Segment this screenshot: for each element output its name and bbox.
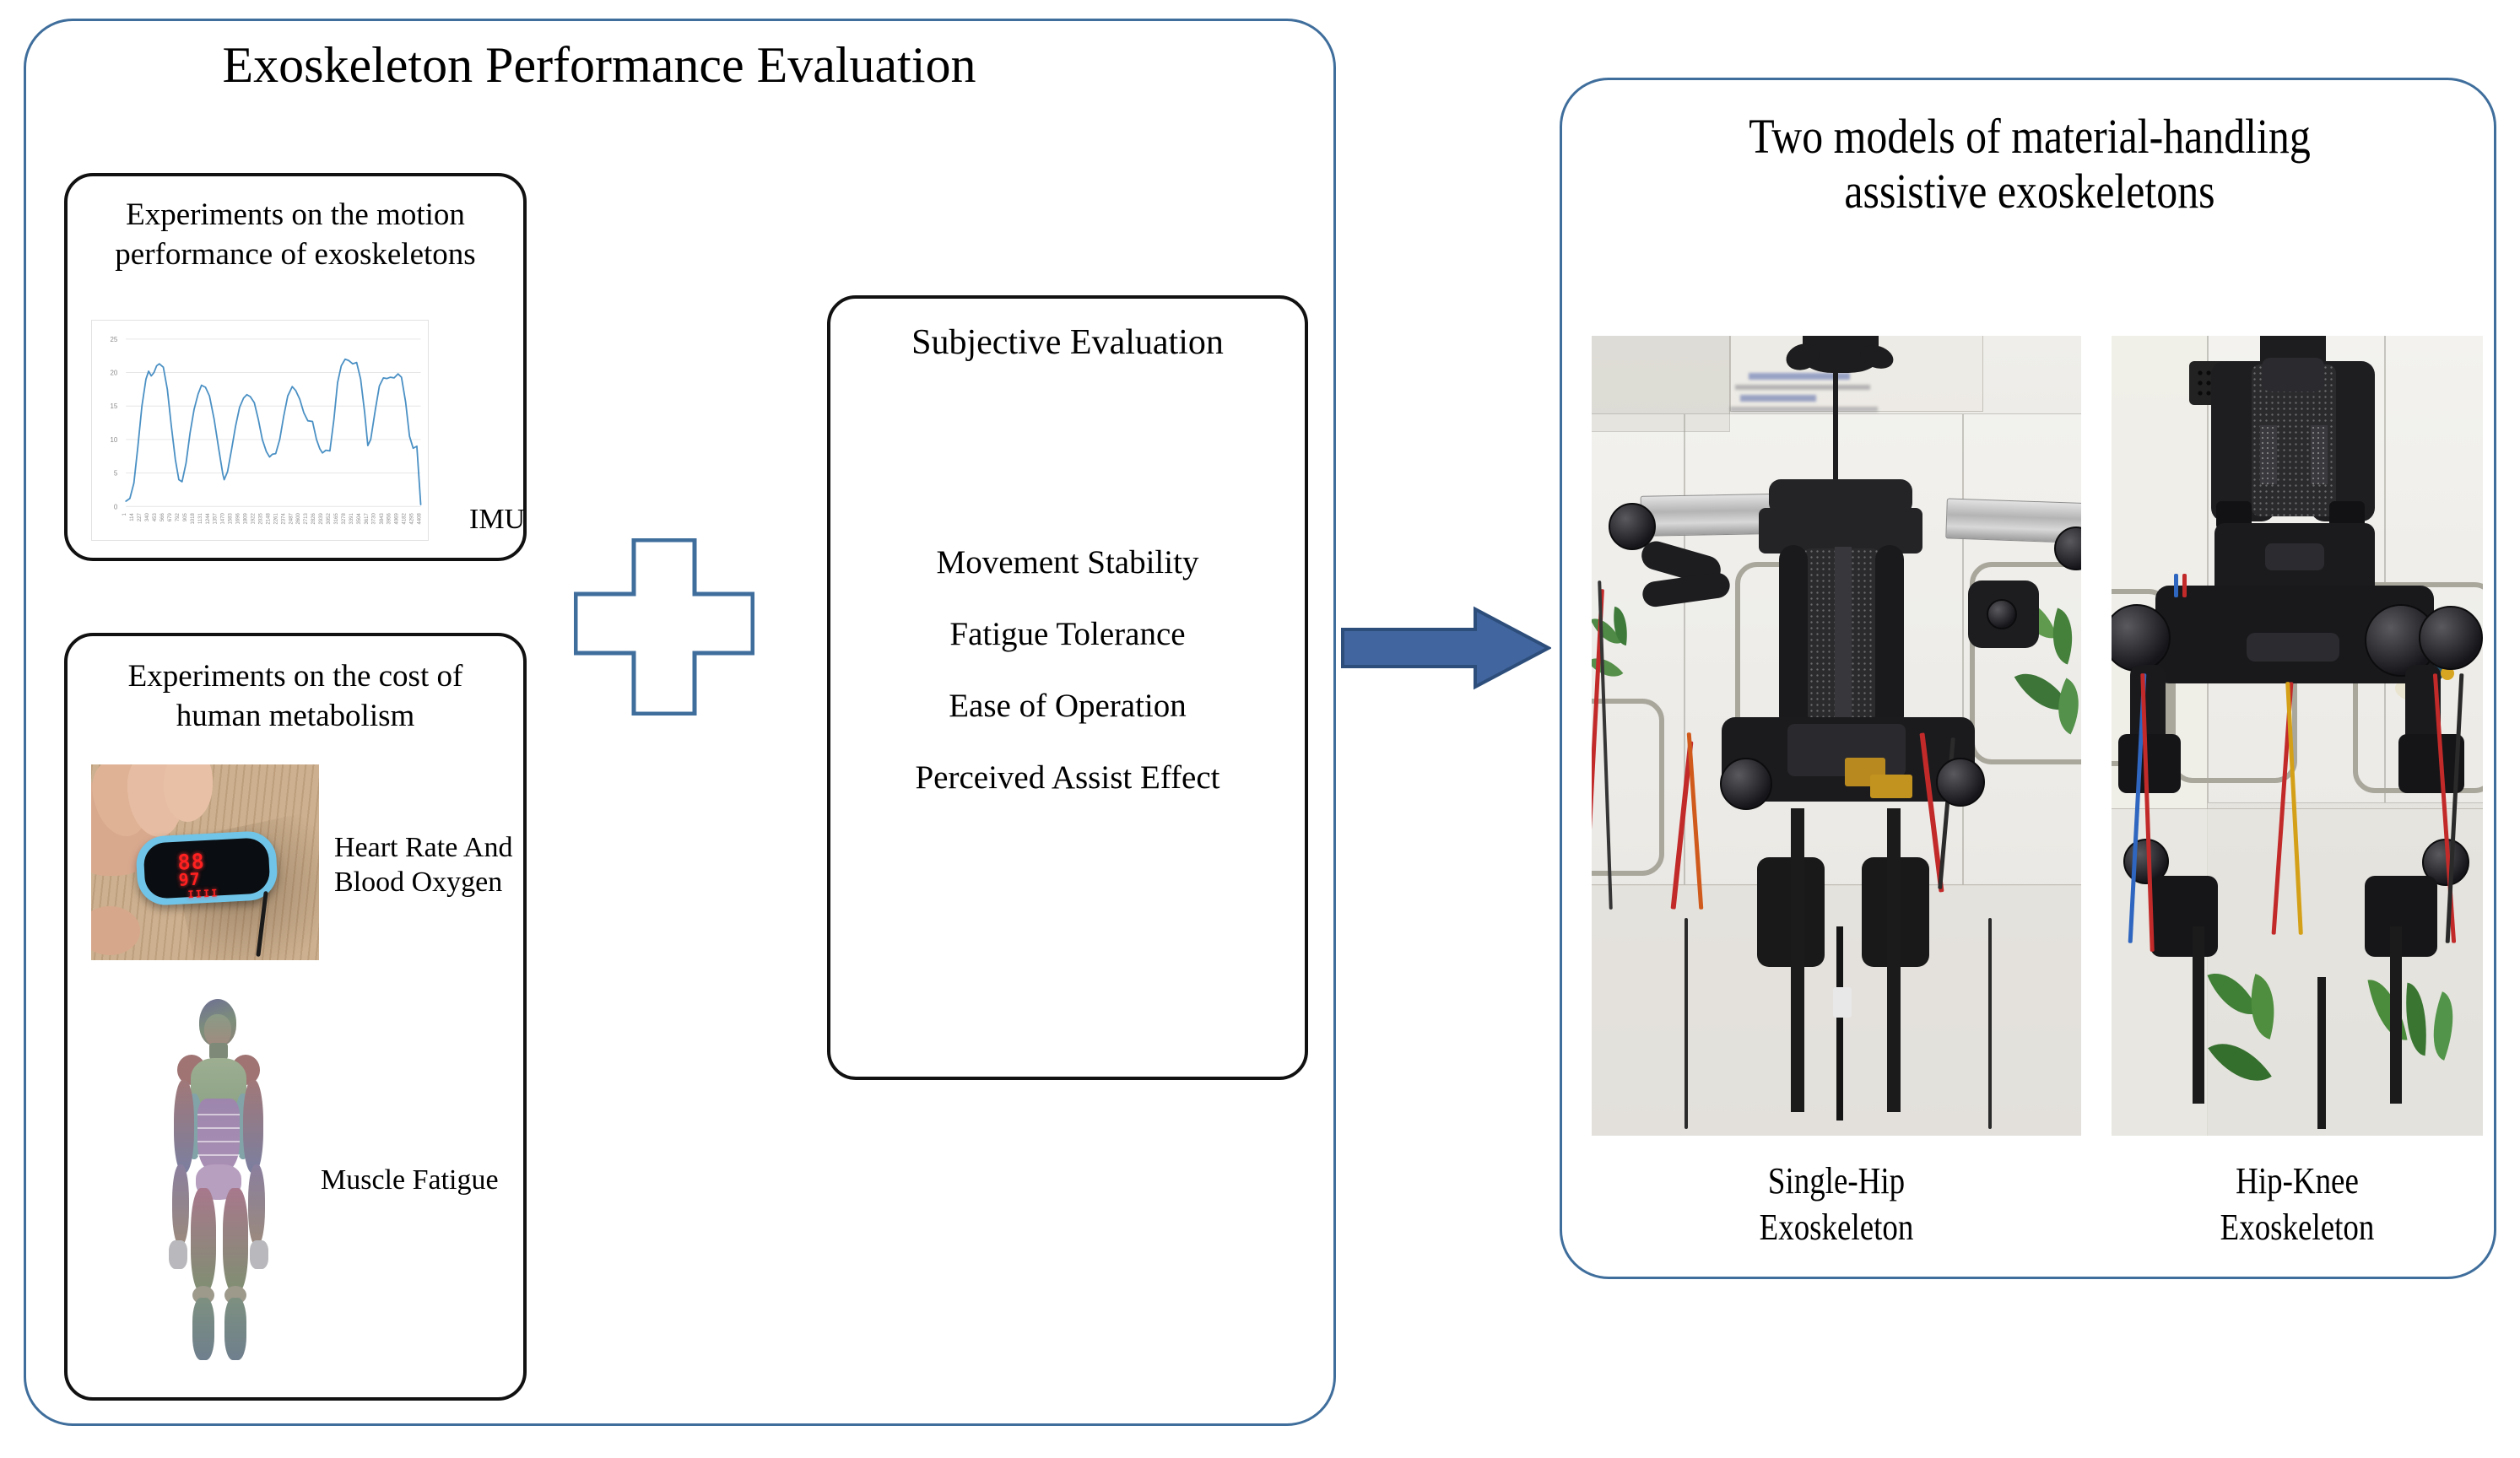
svg-text:4069: 4069 [395, 513, 400, 525]
svg-text:4408: 4408 [418, 513, 423, 525]
connector-white [1833, 987, 1852, 1018]
right-arrow-icon [1340, 606, 1551, 690]
anatomy-calf-right [224, 1298, 246, 1360]
subjective-item-perceived-assist-effect: Perceived Assist Effect [830, 759, 1305, 796]
svg-text:227: 227 [138, 513, 143, 521]
svg-text:3504: 3504 [357, 513, 362, 525]
svg-text:1131: 1131 [198, 513, 203, 524]
thigh-cuff-left [2118, 734, 2181, 793]
svg-text:1018: 1018 [191, 513, 196, 525]
svg-text:3956: 3956 [387, 513, 392, 525]
svg-text:2374: 2374 [281, 513, 286, 525]
svg-text:114: 114 [130, 513, 135, 521]
svg-text:3730: 3730 [372, 513, 377, 525]
motion-experiments-box: Experiments on the motion performance of… [64, 173, 527, 561]
svg-text:566: 566 [160, 513, 165, 522]
anatomy-calf-left [192, 1298, 214, 1360]
svg-text:1470: 1470 [221, 513, 226, 525]
svg-text:25: 25 [110, 336, 117, 343]
svg-text:1244: 1244 [206, 513, 211, 525]
diagram-canvas: Exoskeleton Performance Evaluation Exper… [0, 0, 2520, 1458]
wire-blue [2174, 574, 2178, 597]
metabolism-box-heading: Experiments on the cost of human metabol… [68, 656, 523, 737]
svg-text:2261: 2261 [273, 513, 278, 525]
svg-text:2487: 2487 [289, 513, 294, 524]
pulse-oximeter-photo: 88 97 IIII [91, 764, 319, 960]
svg-text:3843: 3843 [380, 513, 385, 525]
svg-text:3617: 3617 [365, 513, 370, 524]
oximeter-device: 88 97 IIII [135, 830, 278, 907]
anatomy-forearm-left [172, 1164, 189, 1245]
spo2-reading: 97 [178, 868, 201, 889]
svg-text:3391: 3391 [349, 513, 354, 525]
anatomy-abdominals [197, 1099, 240, 1173]
single-hip-exoskeleton-photo [1592, 336, 2081, 1136]
muscle-anatomy-figure [140, 999, 294, 1362]
svg-text:20: 20 [110, 370, 117, 377]
svg-text:340: 340 [145, 513, 150, 522]
metabolism-experiments-box: Experiments on the cost of human metabol… [64, 633, 527, 1401]
anatomy-upper-arm-left [174, 1080, 194, 1173]
svg-text:792: 792 [176, 513, 181, 521]
oximeter-caption: Heart Rate And Blood Oxygen [334, 830, 513, 900]
svg-text:15: 15 [110, 402, 117, 410]
anatomy-hand-left [169, 1240, 187, 1269]
subjective-box-heading: Subjective Evaluation [830, 321, 1305, 366]
hip-actuator-left [1720, 758, 1772, 810]
hip-knee-exoskeleton-caption: Hip-Knee Exoskeleton [2141, 1158, 2453, 1250]
svg-text:2600: 2600 [296, 513, 301, 525]
right-panel-title: Two models of material-handling assistiv… [1649, 110, 2411, 219]
svg-text:1357: 1357 [214, 513, 219, 524]
muscle-fatigue-caption: Muscle Fatigue [321, 1163, 499, 1197]
svg-text:10: 10 [110, 436, 117, 444]
imu-sensor-label: IMU [469, 504, 525, 536]
svg-text:1809: 1809 [244, 513, 249, 525]
svg-text:2148: 2148 [266, 513, 271, 525]
svg-text:4295: 4295 [410, 513, 415, 525]
subjective-item-fatigue-tolerance: Fatigue Tolerance [830, 615, 1305, 653]
svg-text:679: 679 [168, 513, 173, 522]
shank-link-right [2390, 926, 2402, 1104]
oximeter-display: 88 97 IIII [143, 837, 270, 899]
belt-buckle [2247, 633, 2339, 661]
shank-link-left [2193, 926, 2204, 1104]
shoulder-strap-right [1875, 545, 1904, 731]
imu-chart-container: 25 20 15 10 5 0 111422734045356667979290… [91, 320, 429, 541]
svg-text:905: 905 [183, 513, 188, 522]
motion-box-heading: Experiments on the motion performance of… [68, 195, 523, 275]
anatomy-neck [209, 1043, 228, 1060]
shoulder-strap-left [1779, 545, 1808, 731]
single-hip-exoskeleton-caption: Single-Hip Exoskeleton [1630, 1158, 2041, 1250]
anatomy-thigh-right [223, 1188, 248, 1293]
signal-bars: IIII [187, 887, 219, 900]
leg-strap-left [1791, 808, 1804, 1112]
svg-text:3278: 3278 [342, 513, 347, 525]
anatomy-upper-arm-right [243, 1080, 263, 1173]
svg-text:2826: 2826 [311, 513, 316, 525]
hip-actuator-right [1936, 758, 1985, 807]
svg-text:2035: 2035 [258, 513, 263, 525]
svg-text:0: 0 [114, 503, 118, 510]
svg-text:2713: 2713 [304, 513, 309, 525]
hip-knee-exoskeleton-photo [2112, 336, 2483, 1136]
imu-line-chart: 25 20 15 10 5 0 111422734045356667979290… [91, 320, 429, 541]
anatomy-hand-right [250, 1240, 268, 1269]
svg-text:3165: 3165 [334, 513, 339, 525]
svg-text:2939: 2939 [319, 513, 324, 525]
svg-text:5: 5 [114, 470, 118, 478]
anatomy-face [204, 1014, 231, 1046]
svg-text:1922: 1922 [251, 513, 256, 524]
svg-text:4182: 4182 [403, 513, 408, 524]
left-panel-title: Exoskeleton Performance Evaluation [51, 37, 1148, 94]
subjective-item-movement-stability: Movement Stability [830, 543, 1305, 581]
plus-shape-icon [574, 538, 754, 715]
subjective-item-ease-of-operation: Ease of Operation [830, 687, 1305, 725]
shank-cuff-left [2150, 876, 2218, 957]
subjective-evaluation-box: Subjective Evaluation Movement Stability… [827, 295, 1308, 1080]
svg-text:1583: 1583 [229, 513, 234, 525]
svg-text:453: 453 [153, 513, 158, 522]
leg-strap-right [1887, 808, 1901, 1112]
svg-text:3052: 3052 [327, 513, 332, 524]
anatomy-thigh-left [191, 1188, 216, 1293]
wire-red [2182, 574, 2187, 597]
anatomy-forearm-right [248, 1164, 265, 1245]
svg-text:1696: 1696 [236, 513, 241, 525]
